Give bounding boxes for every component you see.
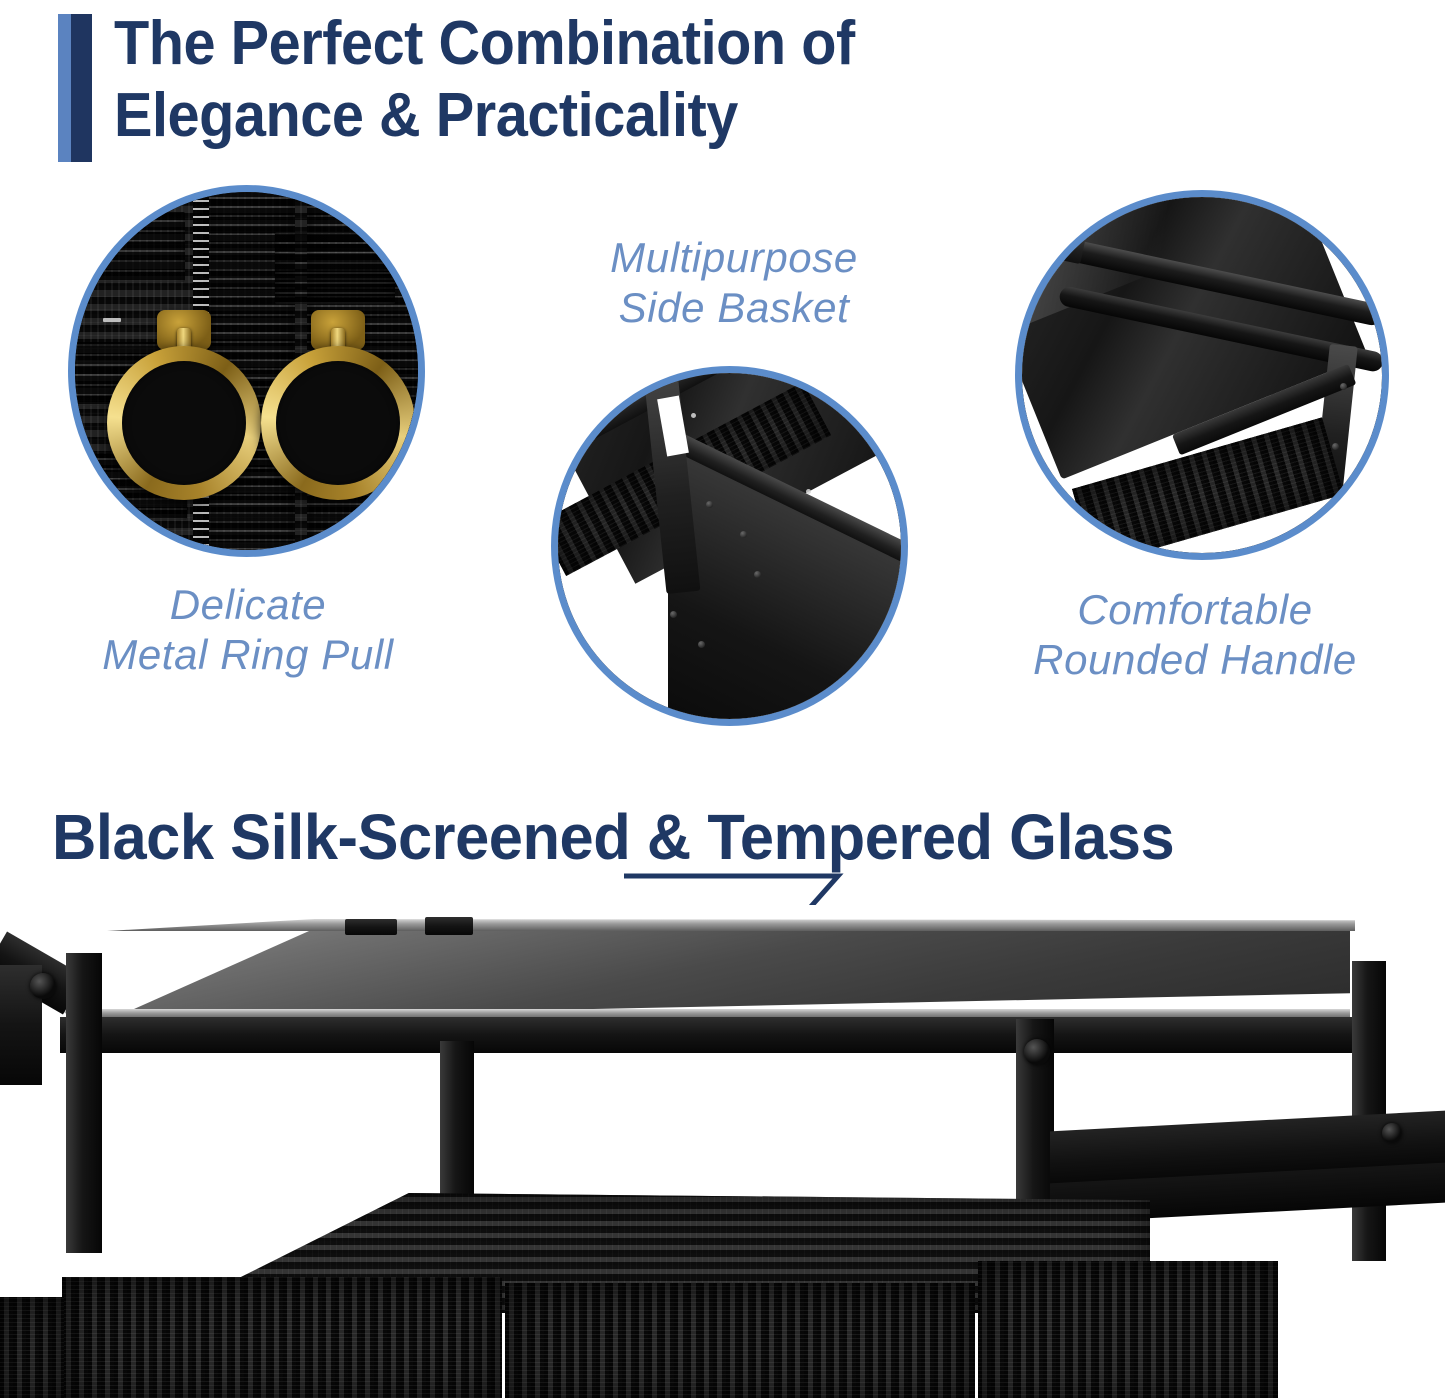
frame-apron-front bbox=[60, 1017, 1352, 1053]
rattan-cabinet-front-right bbox=[505, 1283, 975, 1398]
feature-caption-side-basket: Multipurpose Side Basket bbox=[540, 233, 928, 333]
rattan-weave-block bbox=[75, 212, 185, 282]
rivet bbox=[706, 501, 713, 508]
rivet bbox=[670, 611, 677, 618]
rattan-weave-block bbox=[275, 232, 395, 304]
screw-highlight bbox=[691, 413, 696, 418]
gold-ring-pull-left bbox=[99, 310, 269, 510]
rattan-cabinet-front-left bbox=[62, 1277, 502, 1398]
rivet bbox=[740, 531, 747, 538]
rivet bbox=[754, 571, 761, 578]
screw-highlight bbox=[806, 489, 811, 494]
tempered-glass-top bbox=[60, 927, 1350, 1019]
side-basket-bolt bbox=[1382, 1123, 1402, 1143]
ring-pull-ring bbox=[107, 346, 261, 500]
product-photo bbox=[0, 905, 1445, 1398]
frame-bolt bbox=[1024, 1039, 1050, 1065]
rattan-cabinet-side bbox=[978, 1261, 1278, 1398]
glass-top-edge bbox=[55, 919, 1355, 931]
feature-circle-side-basket bbox=[551, 366, 908, 726]
gold-ring-pull-right bbox=[253, 310, 418, 510]
primary-headline-line1: The Perfect Combination of bbox=[114, 8, 855, 80]
primary-headline-line2: Elegance & Practicality bbox=[114, 80, 855, 152]
feature-image-rounded-handle bbox=[1022, 197, 1382, 553]
feature-circle-rounded-handle bbox=[1015, 190, 1389, 560]
feature-caption-metal-ring-pull: Delicate Metal Ring Pull bbox=[38, 580, 458, 680]
frame-leg-right-back bbox=[1352, 961, 1386, 1261]
marketing-infographic: The Perfect Combination of Elegance & Pr… bbox=[0, 0, 1445, 1398]
primary-headline-block: The Perfect Combination of Elegance & Pr… bbox=[58, 8, 1208, 162]
feature-image-side-basket bbox=[558, 373, 901, 719]
frame-bolt bbox=[30, 973, 56, 999]
rivet bbox=[1332, 443, 1339, 450]
frame-leg-left bbox=[66, 953, 102, 1253]
accent-bar bbox=[58, 14, 92, 162]
glass-clip bbox=[425, 917, 473, 935]
ring-pull-ring bbox=[261, 346, 415, 500]
frame-leg-center bbox=[440, 1041, 474, 1201]
secondary-headline: Black Silk-Screened & Tempered Glass bbox=[52, 800, 1358, 874]
primary-headline-text: The Perfect Combination of Elegance & Pr… bbox=[114, 8, 910, 152]
accent-bar-light-stripe bbox=[58, 14, 71, 162]
feature-caption-rounded-handle: Comfortable Rounded Handle bbox=[975, 585, 1415, 685]
handle-end-cap bbox=[1047, 224, 1087, 264]
feature-circle-metal-ring-pull bbox=[68, 185, 425, 557]
rivet bbox=[1340, 383, 1347, 390]
rattan-cabinet-edge-left bbox=[0, 1297, 64, 1398]
accent-bar-dark-stripe bbox=[71, 14, 92, 162]
glass-clip bbox=[345, 919, 397, 935]
feature-image-metal-ring-pull bbox=[75, 192, 418, 550]
rivet bbox=[698, 641, 705, 648]
